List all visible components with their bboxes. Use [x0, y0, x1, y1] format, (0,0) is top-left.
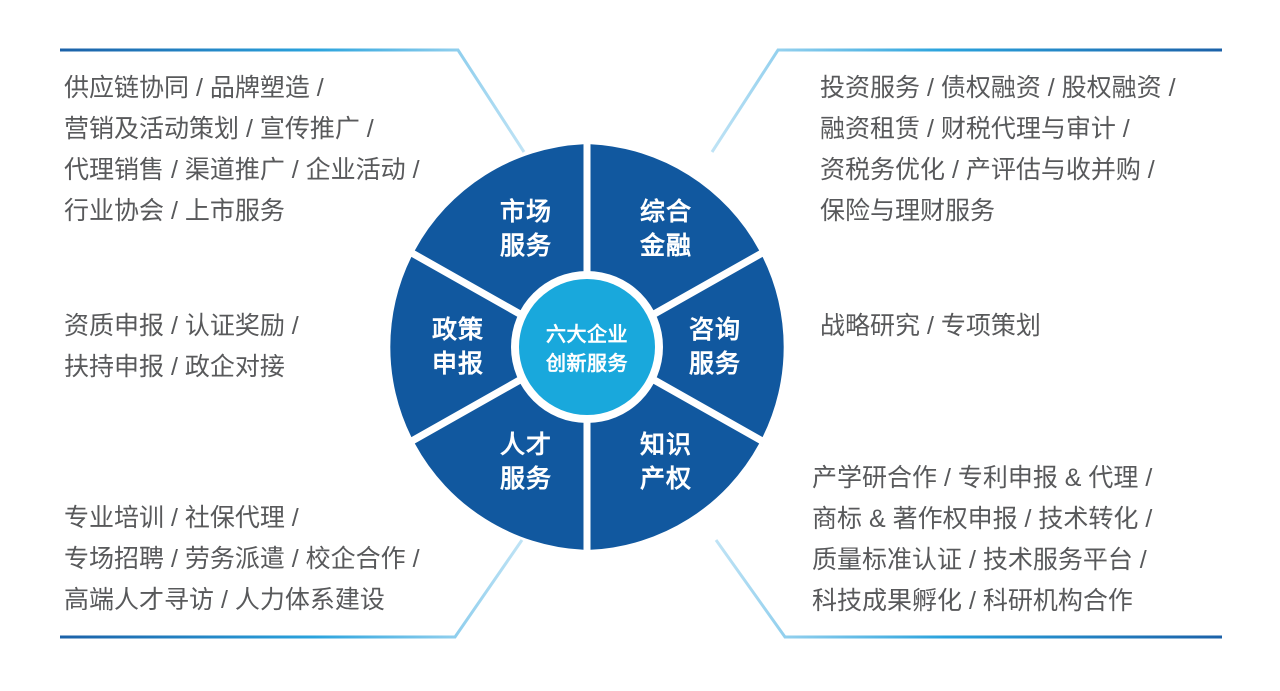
detail-line: 专业培训 / 社保代理 /: [64, 498, 420, 539]
detail-line: 质量标准认证 / 技术服务平台 /: [812, 540, 1152, 581]
detail-block-talent: 专业培训 / 社保代理 / 专场招聘 / 劳务派遣 / 校企合作 / 高端人才寻…: [64, 498, 420, 621]
detail-block-market: 供应链协同 / 品牌塑造 / 营销及活动策划 / 宣传推广 / 代理销售 / 渠…: [64, 68, 420, 232]
segment-label-policy-2: 申报: [432, 350, 484, 378]
segment-label-ip-1: 知识: [640, 431, 692, 459]
diagram-canvas: 市场 服务 综合 金融 咨询 服务 知识 产权 人才 服务 政策 申报 六大企业…: [0, 0, 1280, 691]
detail-line: 资质申报 / 认证奖励 /: [64, 306, 299, 347]
segment-label-market-1: 市场: [500, 197, 552, 226]
hub-circle[interactable]: [519, 279, 655, 415]
detail-block-ip: 产学研合作 / 专利申报 & 代理 / 商标 & 著作权申报 / 技术转化 / …: [812, 458, 1152, 622]
segment-label-policy-1: 政策: [432, 315, 484, 344]
detail-line: 行业协会 / 上市服务: [64, 191, 420, 232]
detail-block-finance: 投资服务 / 债权融资 / 股权融资 / 融资租赁 / 财税代理与审计 / 资税…: [820, 68, 1176, 232]
detail-line: 科技成果孵化 / 科研机构合作: [812, 581, 1152, 622]
detail-line: 资税务优化 / 产评估与收并购 /: [820, 150, 1176, 191]
segment-label-talent-2: 服务: [500, 465, 552, 493]
segment-label-market-2: 服务: [500, 232, 552, 260]
hub-label-1: 六大企业: [546, 322, 628, 346]
detail-line: 扶持申报 / 政企对接: [64, 347, 299, 388]
detail-line: 投资服务 / 债权融资 / 股权融资 /: [820, 68, 1176, 109]
detail-line: 商标 & 著作权申报 / 技术转化 /: [812, 499, 1152, 540]
detail-line: 融资租赁 / 财税代理与审计 /: [820, 109, 1176, 150]
detail-line: 战略研究 / 专项策划: [820, 306, 1041, 347]
detail-block-policy: 资质申报 / 认证奖励 / 扶持申报 / 政企对接: [64, 306, 299, 388]
detail-line: 产学研合作 / 专利申报 & 代理 /: [812, 458, 1152, 499]
segment-label-ip-2: 产权: [640, 465, 692, 493]
detail-line: 供应链协同 / 品牌塑造 /: [64, 68, 420, 109]
detail-line: 专场招聘 / 劳务派遣 / 校企合作 /: [64, 539, 420, 580]
detail-line: 保险与理财服务: [820, 191, 1176, 232]
detail-line: 高端人才寻访 / 人力体系建设: [64, 580, 420, 621]
segment-label-consult-1: 咨询: [689, 315, 741, 344]
segment-label-consult-2: 服务: [689, 350, 741, 378]
segment-label-finance-1: 综合: [640, 197, 692, 226]
hub-label-2: 创新服务: [545, 351, 628, 375]
segment-label-finance-2: 金融: [639, 231, 692, 260]
detail-block-consult: 战略研究 / 专项策划: [820, 306, 1041, 347]
segment-label-talent-1: 人才: [500, 431, 552, 459]
detail-line: 营销及活动策划 / 宣传推广 /: [64, 109, 420, 150]
detail-line: 代理销售 / 渠道推广 / 企业活动 /: [64, 150, 420, 191]
service-wheel: 市场 服务 综合 金融 咨询 服务 知识 产权 人才 服务 政策 申报 六大企业…: [378, 138, 798, 558]
